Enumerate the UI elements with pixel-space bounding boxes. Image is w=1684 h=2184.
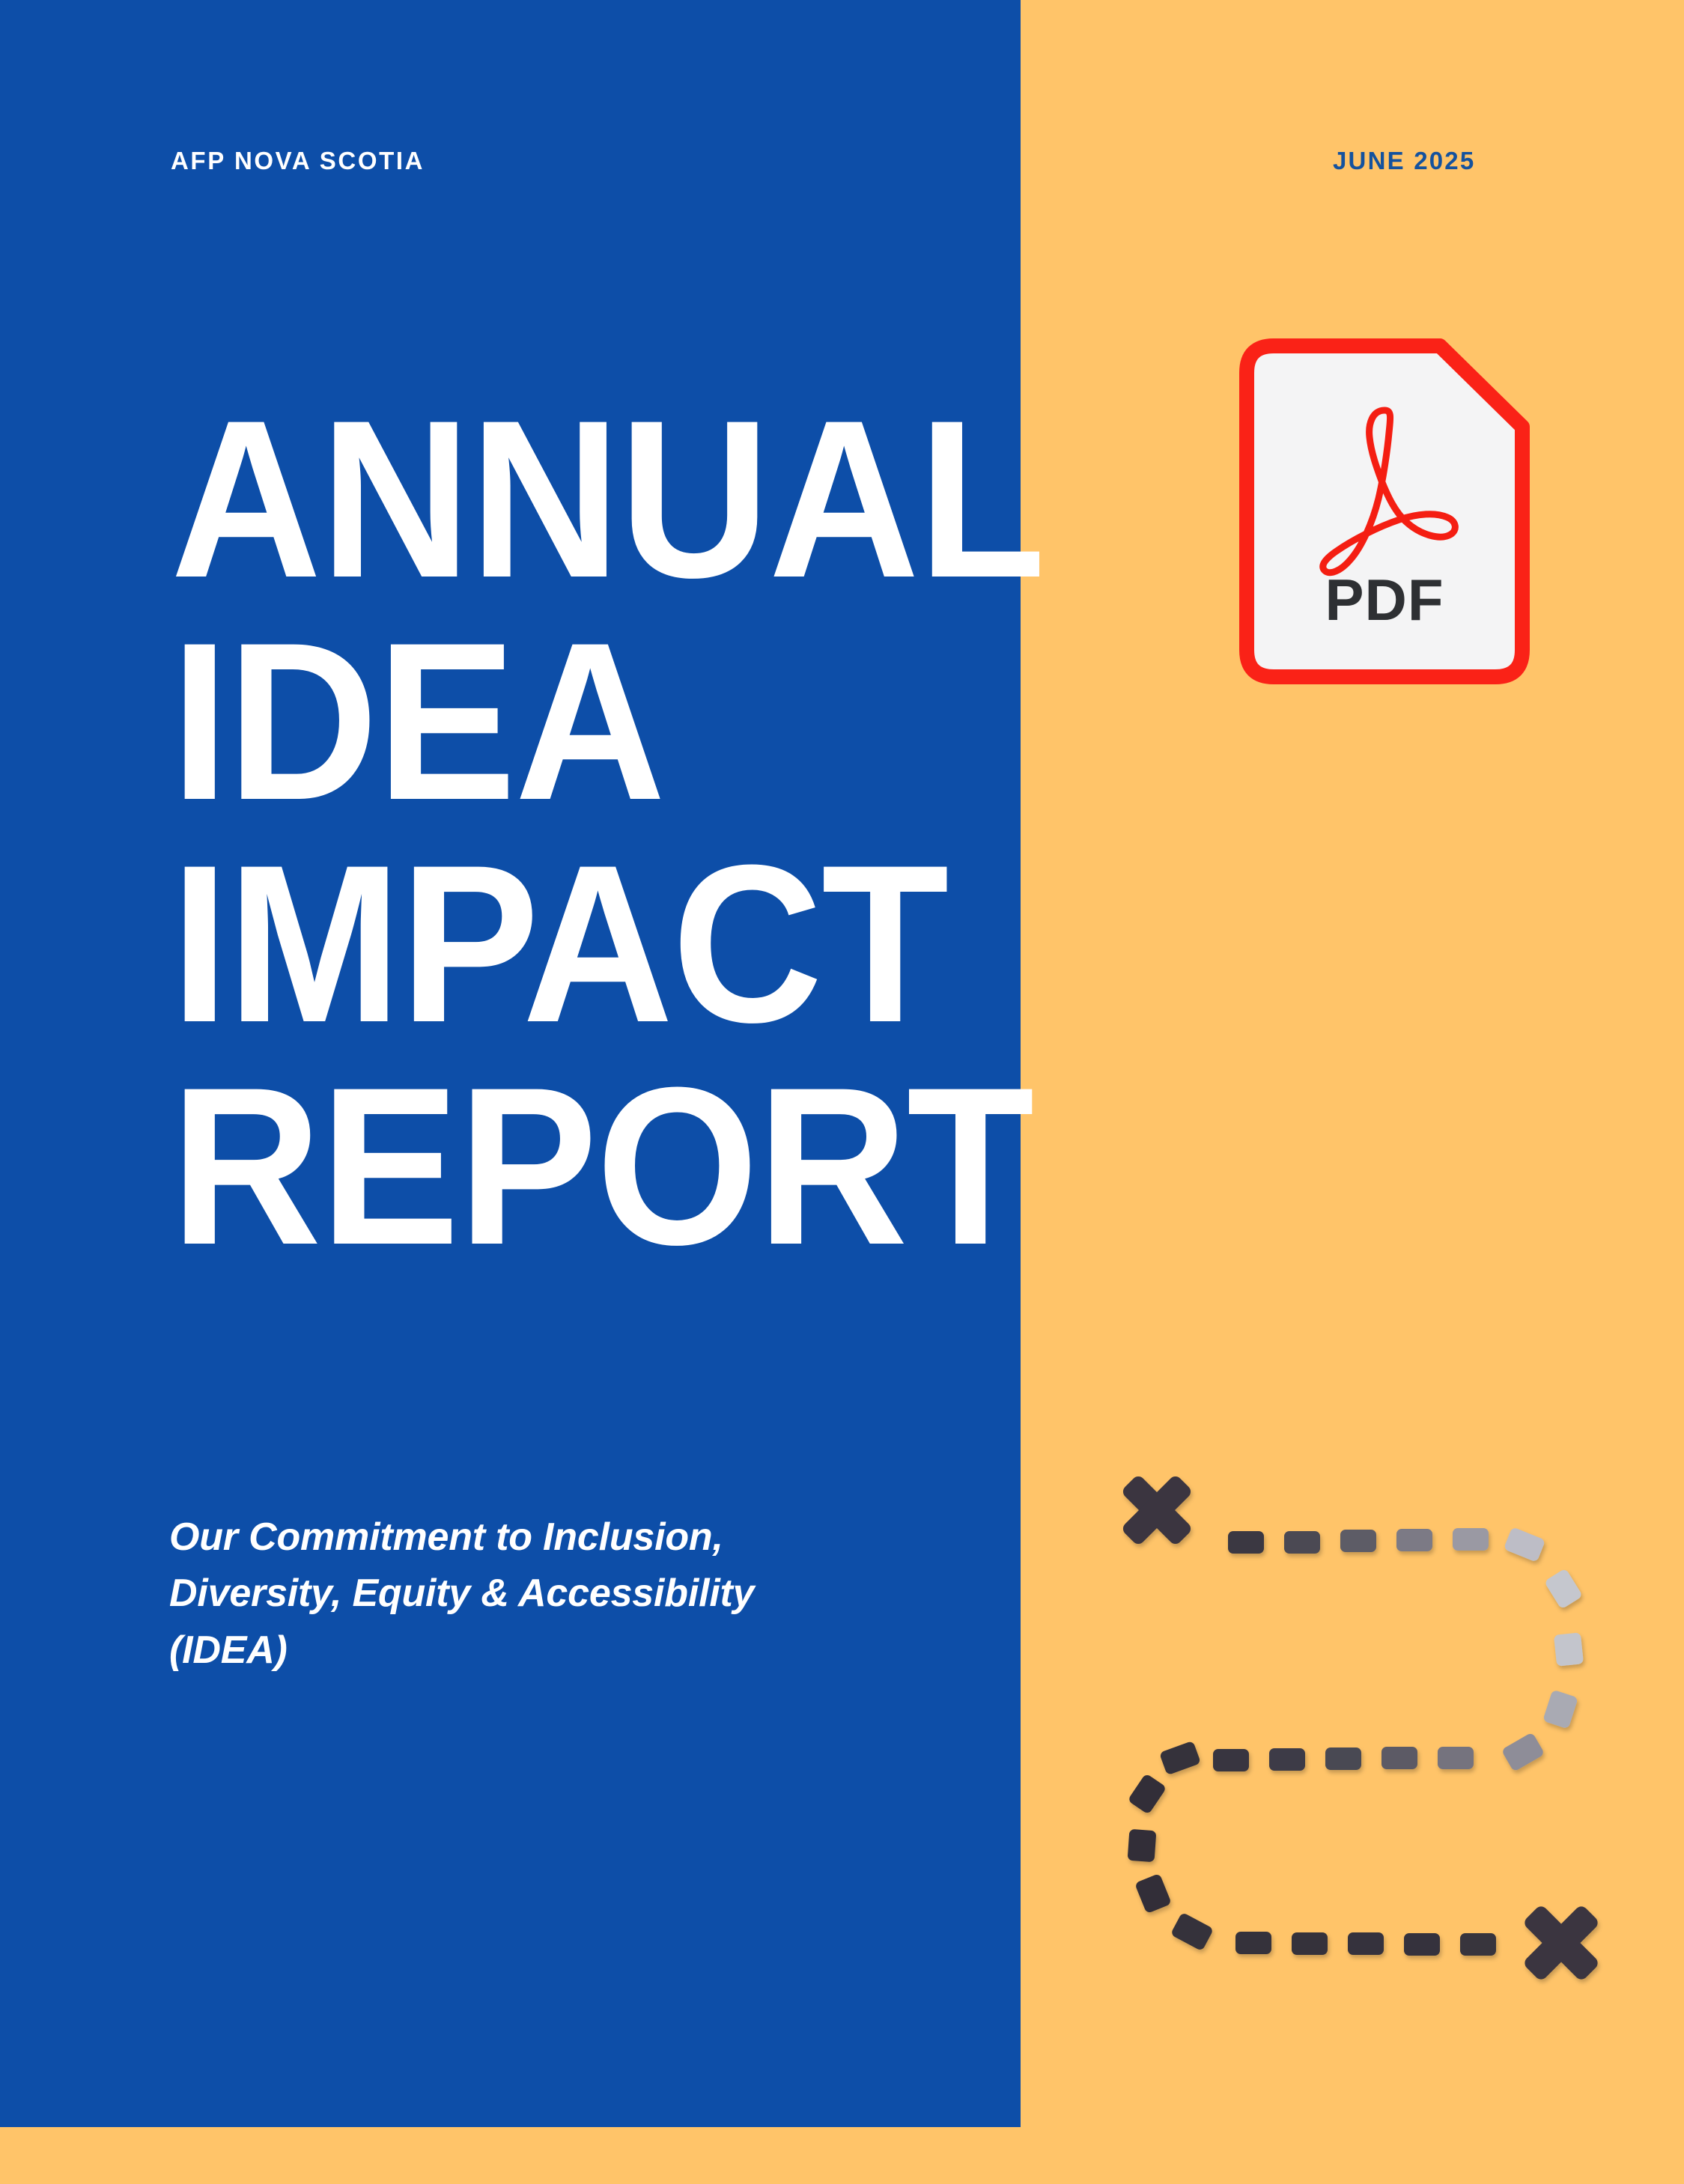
dashed-journey-path: [1116, 1464, 1655, 1988]
title-line-3: IMPACT: [171, 833, 922, 1055]
title-line-1: ANNUAL: [171, 388, 922, 610]
report-date-label: JUNE 2025: [1333, 147, 1475, 175]
pdf-label: PDF: [1239, 571, 1530, 629]
title-line-2: IDEA: [171, 610, 922, 833]
organization-label: AFP NOVA SCOTIA: [171, 147, 425, 175]
page-title: ANNUAL IDEA IMPACT REPORT: [171, 388, 979, 1277]
x-marker-start: [1116, 1464, 1212, 1566]
title-line-4: REPORT: [171, 1055, 922, 1277]
x-marker-end: [1502, 1884, 1620, 1988]
page-subtitle: Our Commitment to Inclusion, Diversity, …: [169, 1509, 858, 1679]
report-cover-page: AFP NOVA SCOTIA JUNE 2025 ANNUAL IDEA IM…: [0, 0, 1684, 2184]
pdf-file-icon[interactable]: PDF: [1239, 338, 1530, 684]
